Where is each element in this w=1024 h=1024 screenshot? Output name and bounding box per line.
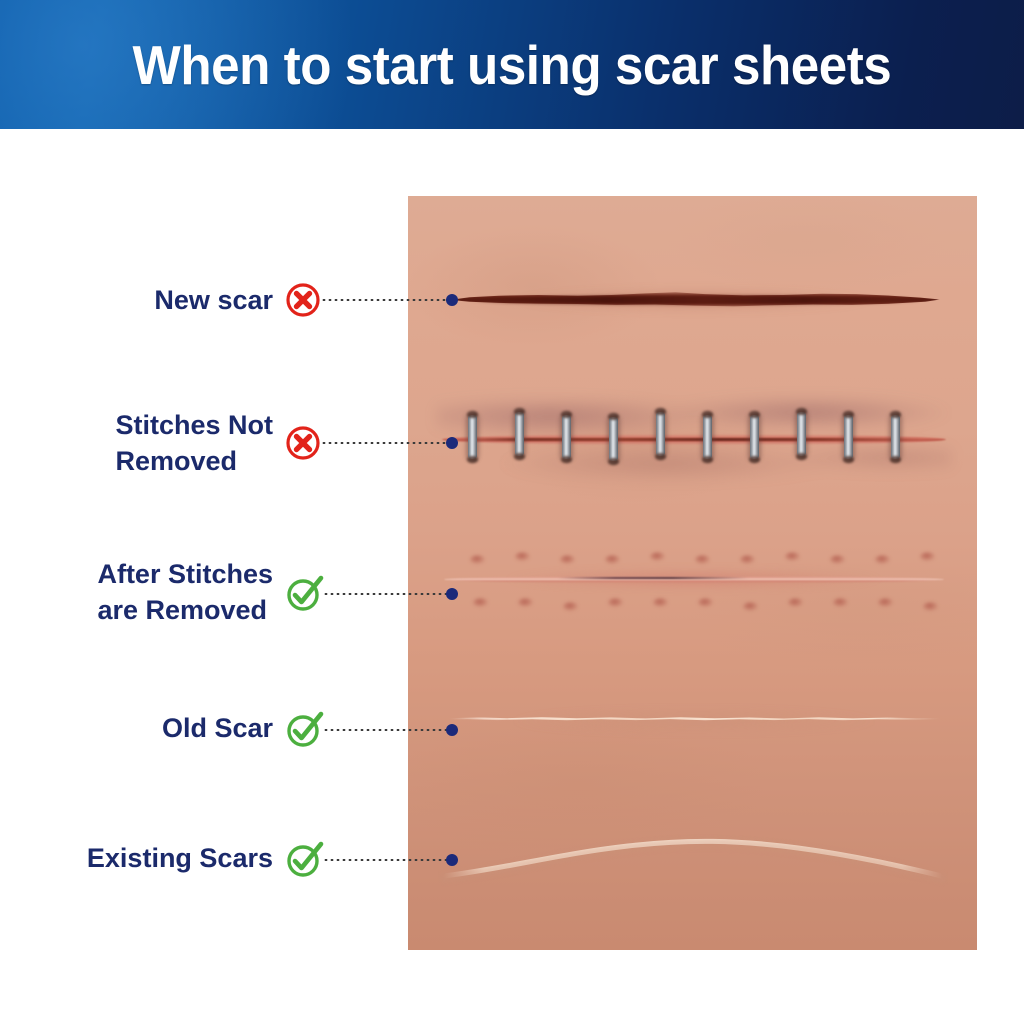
leader-endpoint-dot-4: [446, 724, 458, 736]
scar-graphic-new-scar: [408, 266, 977, 336]
leader-line-3: [323, 593, 452, 595]
suture-mark: [650, 552, 665, 561]
suture-mark: [653, 598, 668, 607]
healing-scar-core: [558, 577, 748, 579]
suture-mark: [515, 552, 530, 561]
suture-mark: [743, 602, 758, 611]
row-label-4: Old Scar: [162, 711, 273, 745]
suture-mark: [560, 555, 575, 564]
row-label-1: New scar: [154, 283, 273, 317]
staple: [562, 415, 571, 459]
suture-mark: [875, 555, 890, 564]
leader-line-5: [323, 859, 452, 861]
leader-endpoint-dot-5: [446, 854, 458, 866]
leader-line-2: [321, 442, 452, 444]
staple: [750, 415, 759, 459]
scar-graphic-stitches-not-removed: [408, 384, 977, 494]
suture-mark: [920, 552, 935, 561]
red-x-icon[interactable]: [285, 425, 321, 461]
leader-line-4: [323, 729, 452, 731]
suture-mark: [695, 555, 710, 564]
suture-mark: [473, 598, 488, 607]
header-banner: When to start using scar sheets: [0, 0, 1024, 129]
suture-mark: [785, 552, 800, 561]
scar-graphic-existing-scars: [408, 824, 977, 904]
old-scar-halo: [444, 704, 944, 738]
suture-mark: [788, 598, 803, 607]
skin-illustration-panel: [408, 196, 977, 950]
wound-core: [468, 296, 923, 304]
scar-graphic-old-scar: [408, 686, 977, 756]
staple: [656, 412, 665, 456]
green-check-icon[interactable]: [285, 574, 321, 610]
suture-mark: [923, 602, 938, 611]
staple: [609, 417, 618, 461]
staple: [703, 415, 712, 459]
red-x-icon[interactable]: [285, 282, 321, 318]
existing-scar-curve: [438, 824, 948, 904]
scar-graphic-after-stitches-removed: [408, 536, 977, 622]
suture-mark: [740, 555, 755, 564]
suture-mark: [878, 598, 893, 607]
row-label-5: Existing Scars: [87, 841, 273, 875]
leader-endpoint-dot-3: [446, 588, 458, 600]
staple: [844, 415, 853, 459]
suture-mark: [605, 555, 620, 564]
suture-mark: [563, 602, 578, 611]
suture-mark: [698, 598, 713, 607]
green-check-icon[interactable]: [285, 840, 321, 876]
staple: [891, 415, 900, 459]
suture-mark: [470, 555, 485, 564]
infographic-body: New scarStitches Not RemovedAfter Stitch…: [0, 129, 1024, 1024]
leader-endpoint-dot-2: [446, 437, 458, 449]
staple: [797, 412, 806, 456]
suture-mark: [830, 555, 845, 564]
staple: [515, 412, 524, 456]
row-label-2: Stitches Not Removed: [115, 407, 273, 479]
suture-mark: [608, 598, 623, 607]
leader-endpoint-dot-1: [446, 294, 458, 306]
suture-mark: [833, 598, 848, 607]
staple: [468, 415, 477, 459]
row-label-3: After Stitches are Removed: [97, 556, 273, 628]
suture-mark: [518, 598, 533, 607]
page-title: When to start using scar sheets: [133, 33, 892, 97]
leader-line-1: [321, 299, 452, 301]
green-check-icon[interactable]: [285, 710, 321, 746]
